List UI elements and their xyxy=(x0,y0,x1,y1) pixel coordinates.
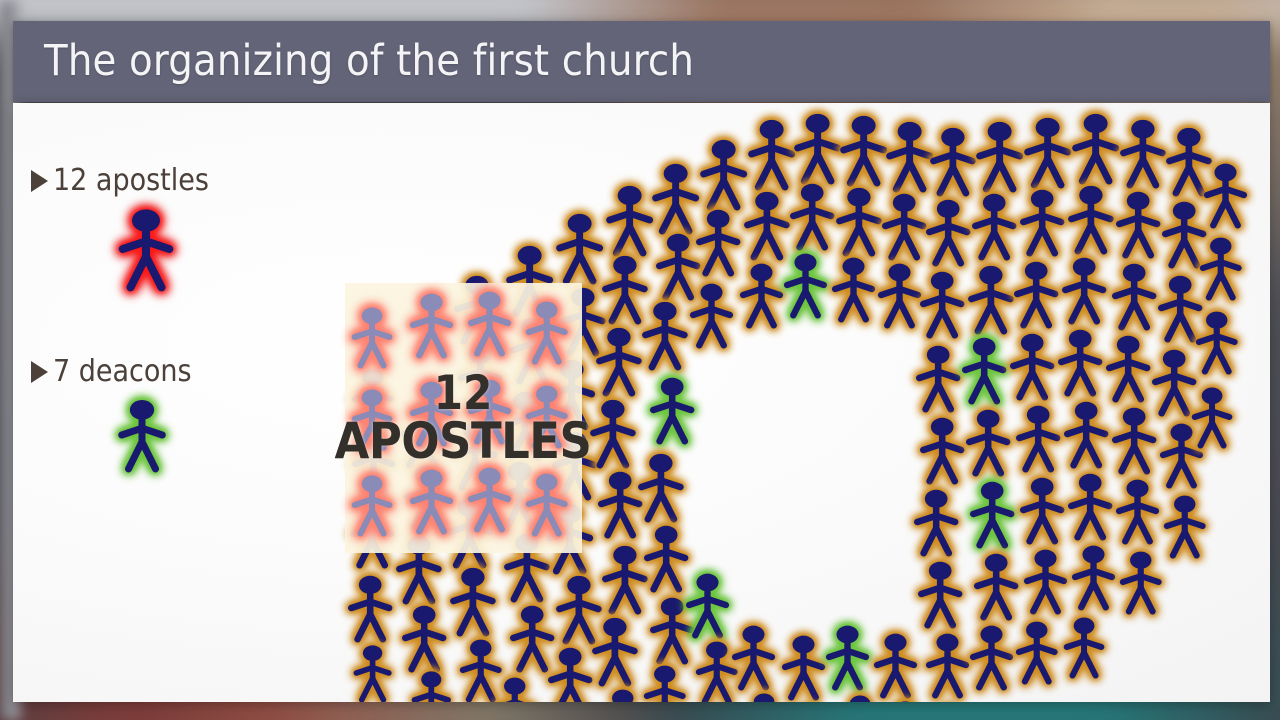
apostle-figure xyxy=(465,465,514,533)
crowd-figure-deacon xyxy=(647,375,697,445)
crowd-figure-deacon xyxy=(683,571,732,639)
crowd-figure-person xyxy=(1113,477,1162,545)
crowd-figure-person xyxy=(1007,331,1057,401)
legend-label-apostles: 12 apostles xyxy=(31,163,331,198)
crowd-figure-person xyxy=(345,573,395,643)
crowd-figure-person xyxy=(1113,189,1163,259)
crowd-figure-person xyxy=(639,299,691,371)
crowd-figure-person xyxy=(1193,309,1241,375)
apostle-figure xyxy=(465,289,514,357)
legend-label-deacons: 7 deacons xyxy=(31,354,331,389)
crowd-figure-person xyxy=(917,415,967,485)
crowd-figure-person xyxy=(687,281,736,349)
crowd-figure-person xyxy=(1065,471,1115,541)
crowd-figure-person xyxy=(1201,161,1250,229)
triangle-bullet-icon xyxy=(31,361,48,383)
slide-viewer: The organizing of the first church 12 ap… xyxy=(0,0,1280,720)
crowd-figure-person xyxy=(1197,235,1245,301)
crowd-figure-person xyxy=(1055,327,1105,397)
crowd-figure-person xyxy=(409,669,454,702)
crowd-figure-deacon xyxy=(967,479,1017,549)
presentation-slide: The organizing of the first church 12 ap… xyxy=(13,21,1270,702)
crowd-figure-person xyxy=(1161,493,1209,559)
apostle-figure xyxy=(349,473,395,537)
crowd-figure-person xyxy=(635,451,687,523)
crowd-figure-person xyxy=(883,699,928,702)
crowd-figure-person xyxy=(879,191,929,261)
crowd-figure-person xyxy=(1117,117,1169,189)
crowd-figure-person xyxy=(351,643,394,702)
crowd-figure-person xyxy=(587,397,639,469)
crowd-figure-person xyxy=(927,125,979,197)
crowd-figure-person xyxy=(491,675,539,702)
crowd-figure-person xyxy=(1109,261,1159,331)
stick-figure-icon-red xyxy=(115,206,177,292)
crowd-figure-person xyxy=(971,551,1021,621)
crowd-figure-person xyxy=(693,207,743,277)
crowd-figure-person xyxy=(963,407,1013,477)
crowd-figure-person xyxy=(829,255,878,323)
apostle-figure xyxy=(407,291,456,359)
crowd-figure-person xyxy=(1061,615,1107,679)
crowd-figure-person xyxy=(1017,475,1067,545)
legend-figure-deacon xyxy=(115,397,331,473)
crowd-figure-person xyxy=(545,645,595,702)
crowd-figure-person xyxy=(1065,183,1117,255)
crowd-figure-person xyxy=(917,269,967,339)
crowd-figure-person xyxy=(599,687,647,702)
crowd-figure-person xyxy=(447,565,499,637)
crowd-figure-person xyxy=(787,181,837,251)
crowd-figure-person xyxy=(1021,547,1070,615)
triangle-bullet-icon xyxy=(31,170,48,192)
crowd-figure-person xyxy=(1021,115,1074,189)
crowd-figure-person xyxy=(973,119,1026,193)
apostle-figure xyxy=(523,383,571,449)
crowd-figure-person xyxy=(1017,187,1067,257)
crowd-figure-person xyxy=(965,263,1017,335)
apostle-figure xyxy=(407,379,456,447)
crowd-figure-person xyxy=(1069,111,1122,185)
apostle-figure xyxy=(407,467,456,535)
crowd-figure-person xyxy=(1103,333,1153,403)
crowd-figure-person xyxy=(911,487,961,557)
legend: 12 apostles 7 deacons xyxy=(31,163,331,483)
crowd-figure-person xyxy=(1117,549,1165,615)
crowd-figure-person xyxy=(729,623,778,691)
crowd-figure-person xyxy=(1059,255,1109,325)
apostle-figure xyxy=(523,299,571,365)
crowd-figure-person xyxy=(779,633,828,701)
crowd-figure-person xyxy=(969,191,1019,261)
slide-body: 12 apostles 7 deacons xyxy=(13,103,1270,702)
apostle-figure xyxy=(465,377,514,445)
apostle-figure xyxy=(349,305,395,369)
crowd-figure-person xyxy=(1189,385,1235,449)
crowd-figure-deacon xyxy=(959,335,1009,405)
crowd-figure-person xyxy=(913,343,963,413)
slide-title-bar: The organizing of the first church xyxy=(13,21,1270,102)
crowd-figure-person xyxy=(871,631,920,699)
crowd-figure-deacon xyxy=(823,623,872,691)
crowd-figure-person xyxy=(593,325,645,397)
crowd-figure-person xyxy=(1011,259,1061,329)
crowd-figure-person xyxy=(1069,543,1118,611)
legend-item-apostles: 12 apostles xyxy=(31,163,331,292)
page-title: The organizing of the first church xyxy=(44,36,694,86)
crowd-figure-person xyxy=(1013,619,1061,685)
crowd-figure-person xyxy=(589,615,641,687)
legend-text-apostles: 12 apostles xyxy=(53,163,209,198)
crowd-figure-person xyxy=(641,663,689,702)
crowd-figure-person xyxy=(833,185,885,257)
crowd-figure-person xyxy=(923,197,973,267)
apostles-figure-grid xyxy=(345,283,582,553)
legend-figure-apostle xyxy=(115,206,331,292)
crowd-figure-person xyxy=(923,631,972,699)
apostle-figure xyxy=(523,471,571,537)
crowd-figure-person xyxy=(399,603,449,673)
legend-spacer xyxy=(31,302,331,354)
crowd-figure-deacon xyxy=(781,251,830,319)
crowd-figure-person xyxy=(915,559,965,629)
stick-figure-icon-green xyxy=(115,397,169,473)
legend-item-deacons: 7 deacons xyxy=(31,354,331,473)
crowd-figure-person xyxy=(737,261,786,329)
crowd-figure-person xyxy=(1061,399,1111,469)
crowd-figure-person xyxy=(1013,403,1063,473)
apostle-figure xyxy=(349,387,395,451)
legend-text-deacons: 7 deacons xyxy=(53,354,192,389)
crowd-figure-person xyxy=(967,623,1016,691)
